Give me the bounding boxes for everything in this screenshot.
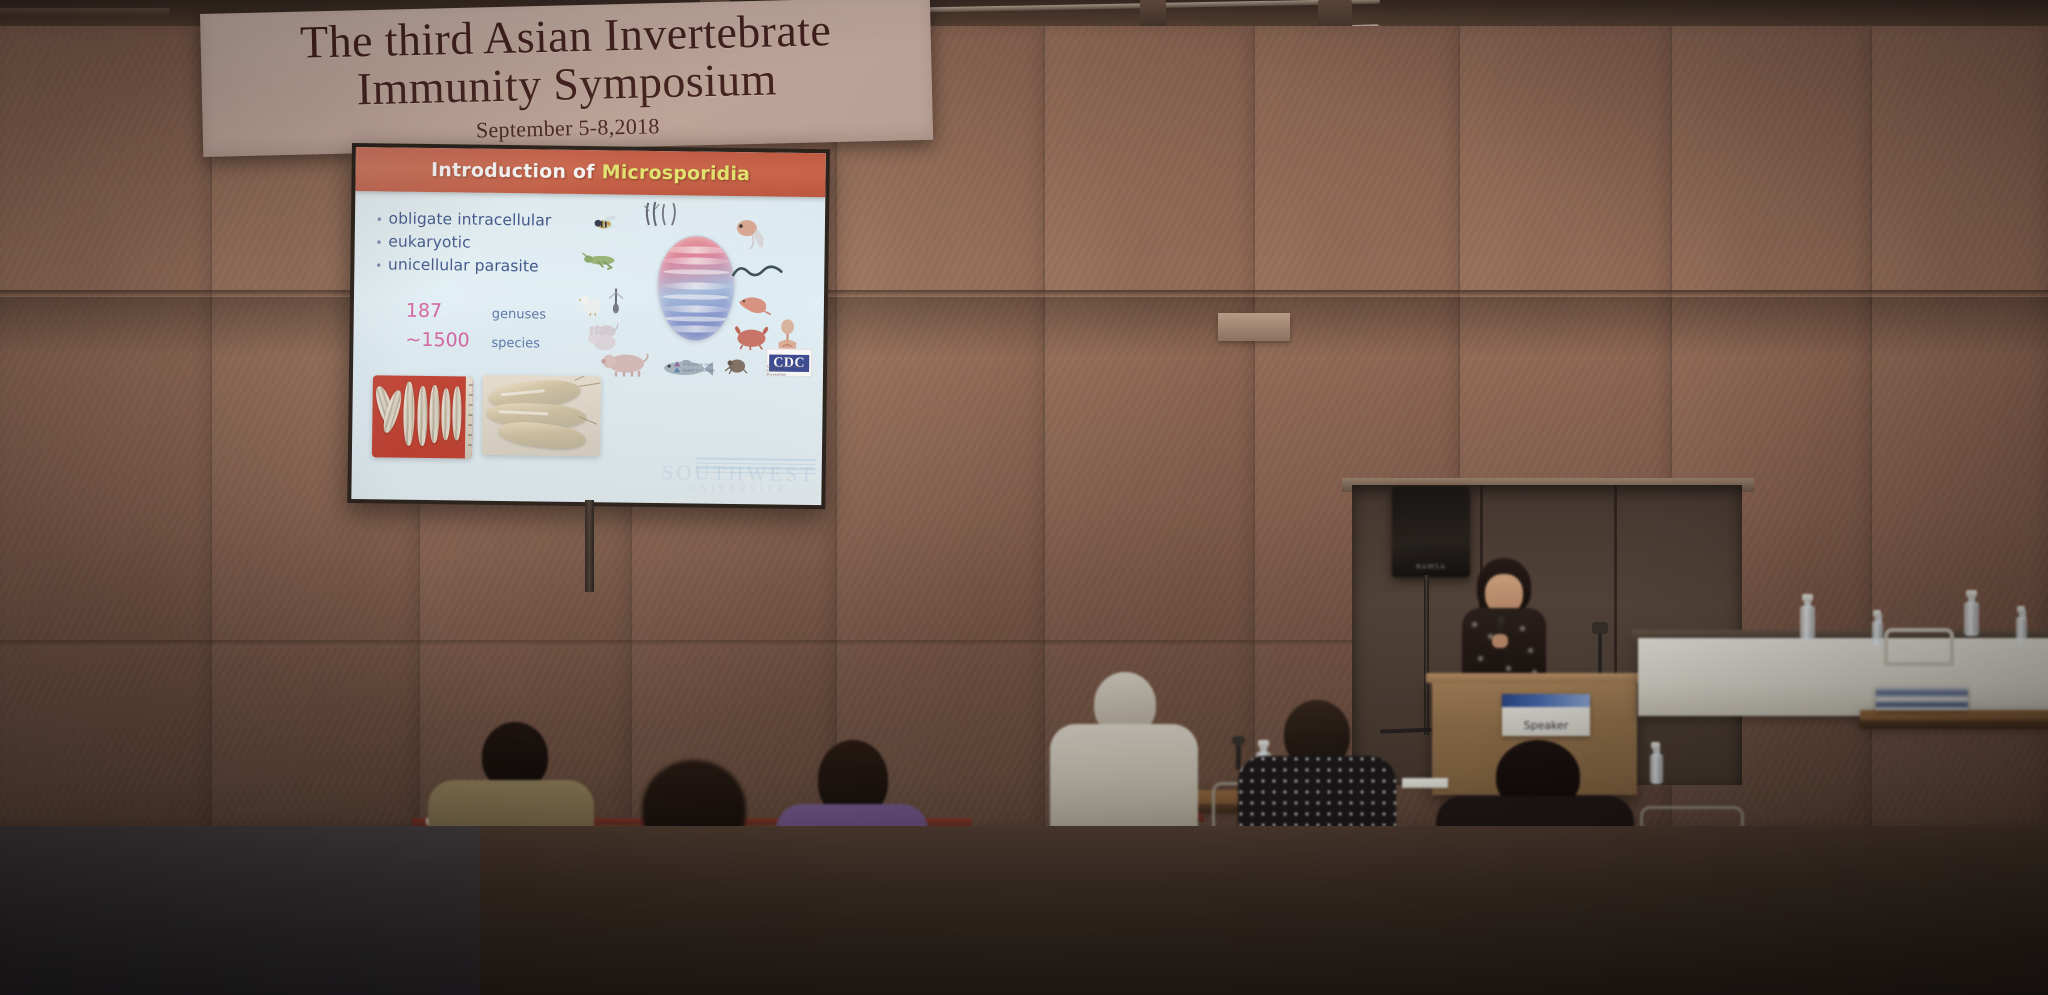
wall-panel xyxy=(835,26,1045,826)
legend-marker-icon xyxy=(674,361,680,366)
bullet-text: unicellular parasite xyxy=(388,255,539,275)
symposium-banner: The third Asian Invertebrate Immunity Sy… xyxy=(200,0,933,157)
bullet-marker-icon: • xyxy=(377,235,382,248)
slide-title-yellow: Microsporidia xyxy=(602,161,751,185)
legend-label: Infection in man xyxy=(683,362,712,366)
photo-silkworm-larvae xyxy=(372,375,473,458)
cdc-logo: CDC Centers for Disease Control and Prev… xyxy=(766,348,812,377)
podium-speaker-sign: Speaker xyxy=(1502,694,1590,736)
wall-plate xyxy=(1218,313,1290,341)
grasshopper-icon xyxy=(581,250,619,270)
head-table-chair xyxy=(1884,628,1954,666)
photo-scale-ruler xyxy=(465,377,473,459)
water-bottle xyxy=(1800,594,1815,640)
pa-speaker-stand xyxy=(1424,575,1429,735)
bullet-marker-icon: • xyxy=(377,212,382,225)
stat-number: ~1500 xyxy=(397,329,491,352)
water-bottle xyxy=(2016,608,2027,642)
legend-marker-icon xyxy=(674,367,680,372)
stat-label: genuses xyxy=(492,307,546,323)
water-bottle xyxy=(1872,612,1883,646)
floor-mic-stand xyxy=(1598,630,1602,678)
watermark-line-1: SOUTHWEST xyxy=(661,462,815,484)
presentation-slide: Introduction of Microsporidia • obligate… xyxy=(351,147,826,505)
bullet-text: obligate intracellular xyxy=(388,209,551,229)
mosquito-larvae-icon xyxy=(642,201,686,230)
conference-hall-photo: The third Asian Invertebrate Immunity Sy… xyxy=(0,0,2048,995)
bullet-marker-icon: • xyxy=(376,258,381,271)
wall-panel xyxy=(0,26,212,826)
bird-icon xyxy=(579,290,605,316)
microsporidia-host-diagram: Infection in man Report in animals CDC C… xyxy=(578,198,820,381)
head-table-skirt xyxy=(1638,638,2048,716)
cdc-logo-subtext: Centers for Disease Control and Preventi… xyxy=(767,364,805,376)
tick-icon xyxy=(724,354,750,376)
list-item: • eukaryotic xyxy=(377,232,592,253)
screen-support-pole xyxy=(585,500,594,592)
stacked-documents xyxy=(1876,686,1968,710)
list-item: • unicellular parasite xyxy=(376,255,591,276)
fish-fry-icon xyxy=(732,216,774,251)
photo-shrimp xyxy=(482,375,601,457)
list-item: • obligate intracellular xyxy=(377,209,592,230)
water-bottle xyxy=(1650,744,1663,784)
water-bottle xyxy=(1964,590,1979,636)
banner-line-2: Immunity Symposium xyxy=(356,56,777,112)
wall-shadow-band xyxy=(0,297,2048,357)
pig-icon xyxy=(600,350,652,377)
podium-sign-text: Speaker xyxy=(1524,719,1569,732)
slide-title-bar: Introduction of Microsporidia xyxy=(355,147,826,197)
stat-label: species xyxy=(491,336,540,352)
bee-icon xyxy=(590,212,620,232)
sign-header-strip xyxy=(1502,694,1590,707)
ceiling-beam xyxy=(0,8,170,17)
wall-seam-upper xyxy=(0,290,2048,297)
side-table xyxy=(1860,710,2048,722)
slide-title-white: Introduction of xyxy=(431,159,595,183)
floor-mic-head xyxy=(1592,622,1608,634)
nematode-icon xyxy=(731,262,783,283)
stat-number: 187 xyxy=(398,300,492,323)
presenter-hand xyxy=(1492,634,1508,648)
slide-bullet-list: • obligate intracellular • eukaryotic • … xyxy=(376,209,592,281)
slide-watermark: SOUTHWEST UNIVERSITY xyxy=(661,462,816,495)
presenter xyxy=(1452,560,1552,690)
ceiling-vent-mid xyxy=(1140,0,1166,26)
diagram-legend: Infection in man Report in animals xyxy=(674,361,715,374)
carpet-area xyxy=(0,826,480,995)
spore-cross-section xyxy=(656,235,735,342)
mosquito-icon xyxy=(605,286,627,316)
banner-date: September 5-8,2018 xyxy=(476,113,660,143)
bullet-text: eukaryotic xyxy=(388,232,471,251)
rabbit-icon xyxy=(584,326,618,352)
legend-label: Report in animals xyxy=(683,368,715,372)
projection-screen: Introduction of Microsporidia • obligate… xyxy=(347,143,830,509)
shrimp-icon xyxy=(735,292,773,316)
